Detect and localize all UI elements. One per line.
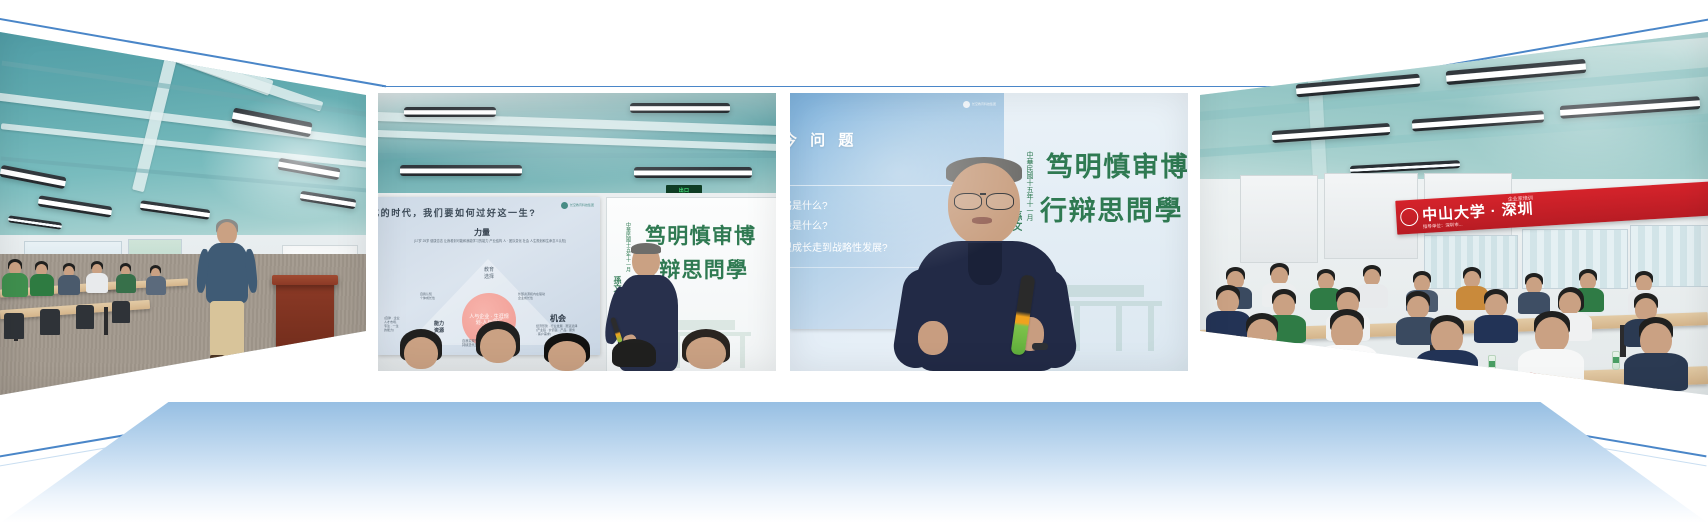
slide2-logo: 长空教育科技集团 bbox=[963, 101, 996, 108]
water-bottle-1 bbox=[1208, 359, 1216, 378]
gallery-photo-left[interactable] bbox=[0, 23, 366, 395]
slide-logo-mark bbox=[561, 202, 568, 209]
university-seal-icon bbox=[1400, 207, 1419, 226]
eyeglasses bbox=[954, 193, 982, 210]
diagram-left-mid-note: 自我认知 个体成长性 bbox=[420, 293, 435, 301]
left-photo-podium-top bbox=[272, 275, 338, 285]
slide2-logo-text: 长空教育科技集团 bbox=[972, 103, 996, 107]
diagram-right-label: 机会 bbox=[550, 313, 566, 324]
left-photo-instructor bbox=[198, 219, 256, 367]
water-bottle-3 bbox=[1488, 355, 1496, 374]
water-bottle-4 bbox=[1612, 351, 1620, 370]
diagram-apex-label: 教育 选择 bbox=[474, 267, 504, 280]
slide-logo-text: 长空教育科技集团 bbox=[570, 204, 594, 208]
slide-title: 化的时代，我们要如何过好这一生? bbox=[378, 206, 536, 219]
water-bottle-2 bbox=[1320, 359, 1328, 378]
slide2-line-3: 如何从机会型成长走到战略性发展? bbox=[790, 239, 888, 254]
slide2-logo-mark bbox=[963, 101, 970, 108]
perspective-gallery-stage: 出口 长空教育科技集团 化的时代，我们要如何过好这一生? 力量 (17岁 25岁… bbox=[0, 0, 1708, 523]
left-photo-podium bbox=[276, 281, 334, 367]
slide2-title: 今 问 题 bbox=[790, 129, 858, 150]
slide-logo: 长空教育科技集团 bbox=[561, 202, 594, 209]
calligraphy2-column-1: 笃明慎审博 bbox=[1046, 145, 1188, 184]
eyeglasses-right bbox=[986, 193, 1014, 210]
gallery-photo-center-1[interactable]: 出口 长空教育科技集团 化的时代，我们要如何过好这一生? 力量 (17岁 25岁… bbox=[378, 93, 776, 371]
window-blind-1 bbox=[1240, 175, 1318, 263]
stage-floor-inner-edge bbox=[0, 386, 1708, 402]
center2-speaker bbox=[912, 157, 1062, 371]
gallery-photo-right[interactable]: 企业家培训 中山大学 · 深圳 指导单位：深圳市... bbox=[1200, 23, 1708, 395]
diagram-right-mid-note: 外部资源和内在驱动 企业成长性 bbox=[518, 293, 545, 301]
gallery-photo-center-2[interactable]: 长空教育科技集团 今 问 题 我的人生战略是什么? 我的核心力量是什么? 如何从… bbox=[790, 93, 1188, 371]
frame-line-top-center bbox=[382, 86, 1326, 88]
slide2-line-2: 我的核心力量是什么? bbox=[790, 217, 828, 232]
name-plate-1: 孙九亮 bbox=[1222, 360, 1257, 381]
name-plate-1-text: 孙九亮 bbox=[1233, 368, 1245, 374]
diagram-top-note: (17岁 25岁 健康意志 让我看到可能和我能学习的能力 产业结构 人 · 团队… bbox=[408, 239, 572, 243]
diagram-top-label: 力量 bbox=[474, 227, 490, 238]
stage-floor bbox=[0, 393, 1708, 523]
name-plate-2-text: 周想民 bbox=[1363, 365, 1375, 371]
slide2-line-1: 我的人生战略是什么? bbox=[790, 197, 828, 212]
name-plate-2: 周想民 bbox=[1350, 356, 1389, 379]
